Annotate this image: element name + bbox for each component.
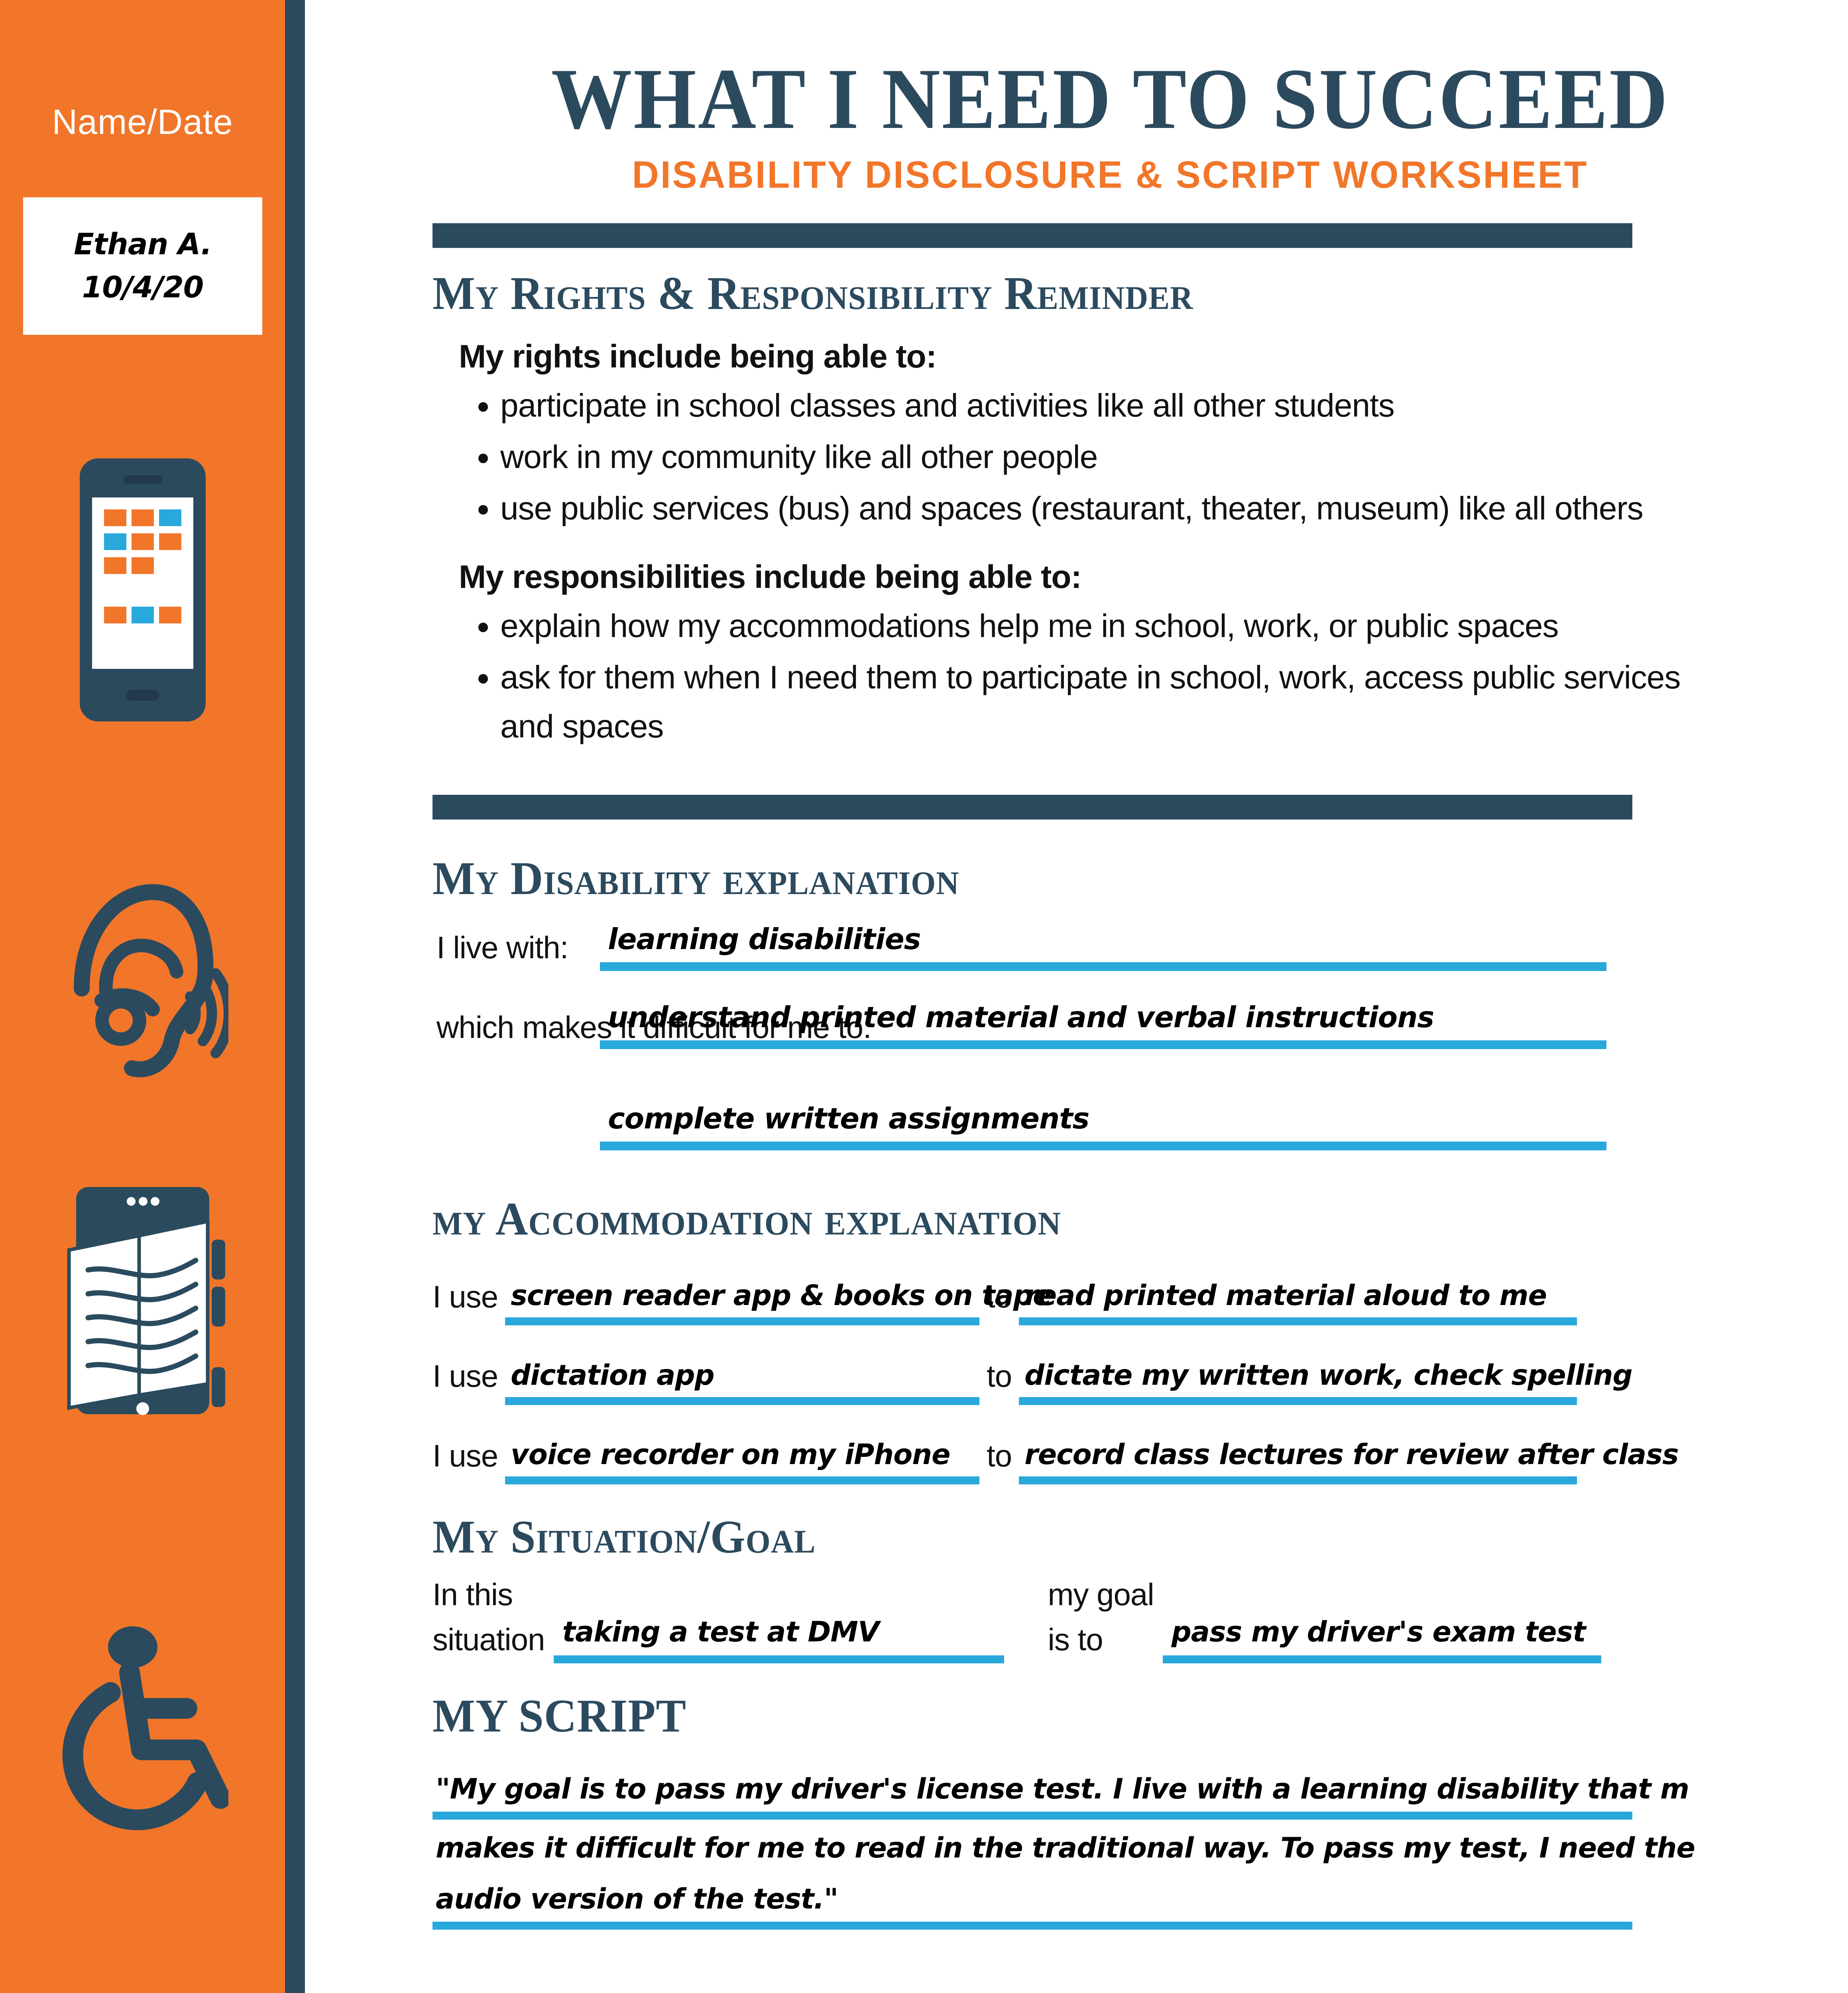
disability-fields: I live with: learning disabilities which… [433, 921, 1788, 1200]
rights-lead: My rights include being able to: [459, 338, 1788, 375]
situation-field: In this situation taking a test at DMV [433, 1572, 1004, 1663]
script-value-2: makes it difficult for me to read in the… [436, 1832, 1695, 1864]
script-input-line-3[interactable]: audio version of the test." [433, 1871, 1632, 1930]
script-input-line-1[interactable]: "My goal is to pass my driver's license … [433, 1761, 1632, 1820]
goal-label: my goal is to [1048, 1572, 1154, 1663]
accommodation-to-value-2: dictate my written work, check spelling [1024, 1359, 1632, 1392]
script-lines: "My goal is to pass my driver's license … [433, 1761, 1788, 1930]
ebook-reader-icon [0, 1180, 285, 1427]
goal-field: my goal is to pass my driver's exam test [1048, 1572, 1601, 1663]
situation-goal-fields: In this situation taking a test at DMV m… [433, 1572, 1788, 1663]
to-label: to [987, 1433, 1012, 1484]
rights-list: participate in school classes and activi… [433, 381, 1788, 533]
section-heading-rights: My Rights & Responsibility Reminder [433, 266, 1734, 320]
which-makes-value-2: complete written assignments [608, 1102, 1089, 1135]
name-date-box[interactable]: Ethan A. 10/4/20 [23, 197, 262, 335]
divider-middle [433, 795, 1632, 820]
live-with-value: learning disabilities [608, 922, 920, 956]
ear-hearing-icon [0, 869, 285, 1092]
main-content: WHAT I NEED TO SUCCEED DISABILITY DISCLO… [433, 0, 1788, 1930]
section-heading-situation-goal: My Situation/Goal [433, 1510, 1734, 1564]
accommodation-use-value-2: dictation app [511, 1359, 714, 1392]
accommodation-to-value-1: read printed material aloud to me [1024, 1279, 1547, 1312]
wheelchair-accessibility-icon [0, 1618, 285, 1842]
accommodation-use-input-3[interactable]: voice recorder on my iPhone [505, 1437, 979, 1484]
which-makes-input-2[interactable]: complete written assignments [600, 1100, 1606, 1150]
name-date-label: Name/Date [0, 102, 285, 142]
script-value-1: "My goal is to pass my driver's license … [436, 1773, 1689, 1805]
accommodation-to-value-3: record class lectures for review after c… [1024, 1438, 1678, 1471]
section-heading-accommodation: my Accommodation explanation [433, 1192, 1734, 1246]
sidebar-vertical-rule [285, 0, 305, 1993]
goal-input[interactable]: pass my driver's exam test [1163, 1614, 1601, 1663]
use-label: I use [433, 1433, 498, 1484]
section-heading-script: MY SCRIPT [433, 1689, 1734, 1743]
accommodation-use-input-2[interactable]: dictation app [505, 1357, 979, 1405]
page-subtitle: DISABILITY DISCLOSURE & SCRIPT WORKSHEET [453, 153, 1767, 197]
situation-input[interactable]: taking a test at DMV [554, 1614, 1004, 1663]
list-item: ask for them when I need them to partici… [500, 653, 1696, 751]
use-label: I use [433, 1274, 498, 1325]
accommodation-row: I use screen reader app & books on tape … [433, 1274, 1788, 1325]
which-makes-value-1: understand printed material and verbal i… [608, 1000, 1434, 1034]
accommodation-use-input-1[interactable]: screen reader app & books on tape [505, 1278, 979, 1325]
page-title: WHAT I NEED TO SUCCEED [480, 56, 1740, 143]
accommodation-to-input-3[interactable]: record class lectures for review after c… [1019, 1437, 1577, 1484]
responsibilities-list: explain how my accommodations help me in… [433, 601, 1788, 751]
script-value-3: audio version of the test." [436, 1883, 838, 1915]
which-makes-input-1[interactable]: understand printed material and verbal i… [600, 999, 1606, 1049]
section-heading-disability: My Disability explanation [433, 851, 1734, 906]
live-with-input[interactable]: learning disabilities [600, 921, 1606, 971]
worksheet-page: Name/Date Ethan A. 10/4/20 [0, 0, 1848, 1993]
list-item: work in my community like all other peop… [500, 432, 1788, 482]
date-value: 10/4/20 [82, 266, 204, 309]
accommodation-use-value-3: voice recorder on my iPhone [511, 1438, 950, 1471]
situation-label: In this situation [433, 1572, 545, 1663]
script-input-line-2[interactable]: makes it difficult for me to read in the… [433, 1820, 1632, 1871]
situation-value: taking a test at DMV [562, 1616, 879, 1648]
divider-top [433, 223, 1632, 248]
list-item: participate in school classes and activi… [500, 381, 1788, 430]
list-item: use public services (bus) and spaces (re… [500, 484, 1788, 533]
smartphone-apps-icon [0, 450, 285, 729]
accommodation-row: I use voice recorder on my iPhone to rec… [433, 1433, 1788, 1484]
goal-value: pass my driver's exam test [1172, 1616, 1586, 1648]
accommodation-row: I use dictation app to dictate my writte… [433, 1353, 1788, 1405]
student-name-value: Ethan A. [74, 223, 212, 266]
list-item: explain how my accommodations help me in… [500, 601, 1788, 651]
use-label: I use [433, 1353, 498, 1405]
live-with-label: I live with: [436, 925, 568, 971]
responsibilities-lead: My responsibilities include being able t… [459, 558, 1788, 596]
accommodation-use-value-1: screen reader app & books on tape [511, 1279, 1051, 1312]
accommodation-to-input-1[interactable]: read printed material aloud to me [1019, 1278, 1577, 1325]
to-label: to [987, 1353, 1012, 1405]
accommodation-to-input-2[interactable]: dictate my written work, check spelling [1019, 1357, 1577, 1405]
